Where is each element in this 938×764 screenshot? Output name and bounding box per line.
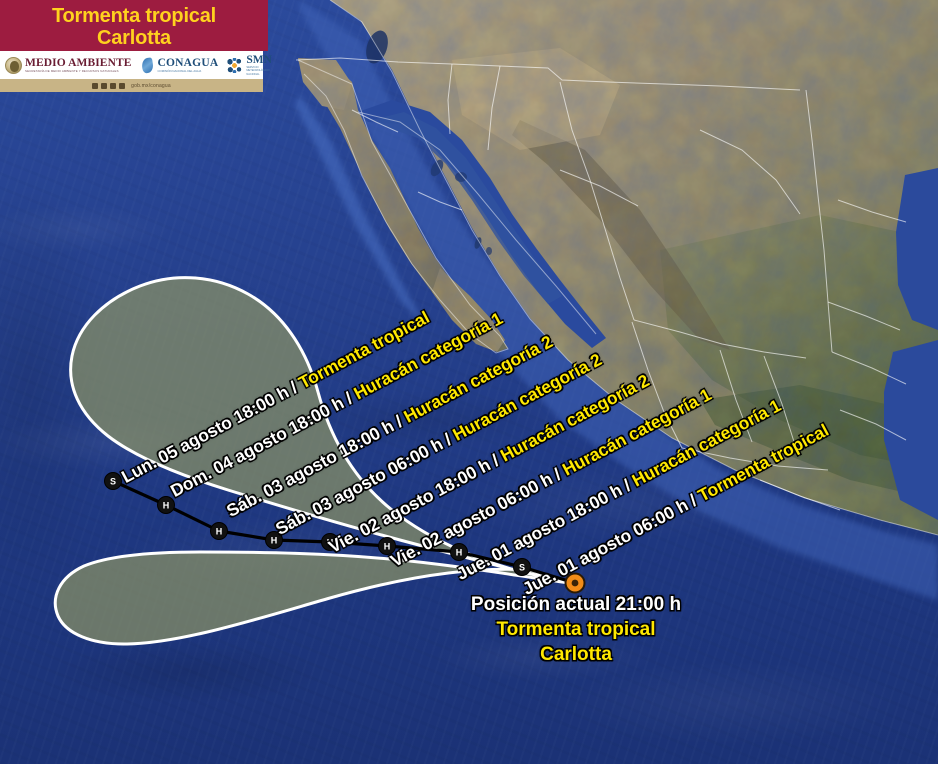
- medio-ambiente-label: MEDIO AMBIENTE: [25, 57, 132, 69]
- conagua-label: CONAGUA: [158, 57, 219, 69]
- smn-sublabel: SERVICIO METEOROLÓGICO NACIONAL: [246, 66, 272, 77]
- x-twitter-icon[interactable]: [101, 83, 107, 89]
- banner-headline: Tormenta tropical Carlotta: [0, 0, 268, 51]
- conagua-logo: CONAGUA COMISIÓN NACIONAL DEL AGUA: [140, 57, 219, 74]
- current-position-text-block: Posición actual 21:00 h Tormenta tropica…: [411, 592, 741, 667]
- conagua-water-drop-icon: [140, 57, 155, 74]
- storm-forecast-map-screenshot: S H H H H H H S Lun. 05 agosto 18:00 h /…: [0, 0, 938, 764]
- conagua-sublabel: COMISIÓN NACIONAL DEL AGUA: [158, 69, 219, 73]
- banner-title-line1: Tormenta tropical: [52, 5, 216, 27]
- social-media-bar: gob.mx/conagua: [0, 79, 263, 92]
- facebook-icon[interactable]: [92, 83, 98, 89]
- youtube-icon[interactable]: [119, 83, 125, 89]
- medio-ambiente-logo: MEDIO AMBIENTE SECRETARÍA DE MEDIO AMBIE…: [5, 57, 132, 74]
- current-position-storm-name: Carlotta: [411, 642, 741, 667]
- current-position-time: Posición actual 21:00 h: [411, 592, 741, 617]
- medio-ambiente-sublabel: SECRETARÍA DE MEDIO AMBIENTE Y RECURSOS …: [25, 69, 132, 73]
- smn-sun-cloud-icon: [226, 57, 243, 74]
- smn-logo: SMN SERVICIO METEOROLÓGICO NACIONAL: [226, 54, 272, 77]
- current-position-classification: Tormenta tropical: [411, 617, 741, 642]
- banner-title-line2: Carlotta: [97, 27, 171, 49]
- smn-label: SMN: [246, 54, 272, 66]
- instagram-icon[interactable]: [110, 83, 116, 89]
- mexico-eagle-seal-icon: [5, 57, 22, 74]
- title-banner: Tormenta tropical Carlotta MEDIO AMBIENT…: [0, 0, 268, 92]
- agency-logo-bar: MEDIO AMBIENTE SECRETARÍA DE MEDIO AMBIE…: [0, 51, 263, 79]
- social-url-label: gob.mx/conagua: [131, 83, 171, 89]
